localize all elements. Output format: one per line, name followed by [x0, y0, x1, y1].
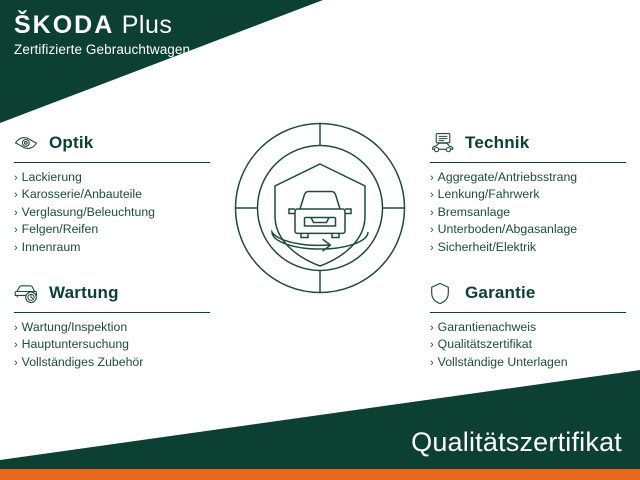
brand-name-plus: Plus	[122, 11, 173, 39]
brand-logo: ŠKODA Plus Zertifizierte Gebrauchtwagen	[14, 10, 190, 58]
section-wartung: Wartung ›Wartung/Inspektion ›Hauptunters…	[14, 280, 210, 371]
section-technik-title: Technik	[465, 133, 529, 153]
chevron-icon: ›	[14, 205, 18, 221]
chevron-icon: ›	[430, 170, 434, 186]
list-item: ›Garantienachweis	[430, 319, 626, 336]
section-optik-title: Optik	[49, 133, 93, 153]
section-optik-list: ›Lackierung ›Karosserie/Anbauteile ›Verg…	[14, 169, 210, 256]
certified-vehicle-shield-emblem	[232, 120, 408, 296]
chevron-icon: ›	[14, 337, 18, 353]
list-item-label: Qualitätszertifikat	[438, 336, 532, 352]
list-item: ›Hauptuntersuchung	[14, 336, 210, 353]
car-technical-icon	[430, 131, 456, 155]
footer-title: Qualitätszertifikat	[411, 426, 622, 458]
shield-icon	[430, 281, 456, 305]
list-item: ›Karosserie/Anbauteile	[14, 186, 210, 203]
list-item-label: Lackierung	[22, 169, 82, 185]
list-item-label: Verglasung/Beleuchtung	[22, 204, 155, 220]
section-garantie-list: ›Garantienachweis ›Qualitätszertifikat ›…	[430, 319, 626, 371]
list-item-label: Lenkung/Fahrwerk	[438, 186, 540, 202]
section-technik-header: Technik	[430, 130, 626, 156]
chevron-icon: ›	[14, 170, 18, 186]
column-left: Optik ›Lackierung ›Karosserie/Anbauteile…	[14, 130, 210, 371]
list-item-label: Karosserie/Anbauteile	[22, 186, 142, 202]
list-item: ›Felgen/Reifen	[14, 221, 210, 238]
list-item-label: Unterboden/Abgasanlage	[438, 221, 577, 237]
list-item-label: Wartung/Inspektion	[22, 319, 128, 335]
list-item: ›Bremsanlage	[430, 204, 626, 221]
chevron-icon: ›	[430, 355, 434, 371]
list-item: ›Innenraum	[14, 239, 210, 256]
section-technik: Technik ›Aggregate/Antriebsstrang ›Lenku…	[430, 130, 626, 256]
chevron-icon: ›	[430, 337, 434, 353]
list-item-label: Sicherheit/Elektrik	[438, 239, 536, 255]
section-optik: Optik ›Lackierung ›Karosserie/Anbauteile…	[14, 130, 210, 256]
brand-title: ŠKODA Plus	[14, 10, 190, 40]
list-item: ›Wartung/Inspektion	[14, 319, 210, 336]
list-item: ›Lenkung/Fahrwerk	[430, 186, 626, 203]
section-wartung-title: Wartung	[49, 283, 119, 303]
section-garantie: Garantie ›Garantienachweis ›Qualitätszer…	[430, 280, 626, 371]
list-item-label: Bremsanlage	[438, 204, 510, 220]
list-item-label: Felgen/Reifen	[22, 221, 99, 237]
list-item-label: Innenraum	[22, 239, 81, 255]
list-item: ›Verglasung/Beleuchtung	[14, 204, 210, 221]
section-garantie-header: Garantie	[430, 280, 626, 306]
section-garantie-divider	[430, 312, 626, 313]
list-item-label: Aggregate/Antriebsstrang	[438, 169, 577, 185]
chevron-icon: ›	[14, 355, 18, 371]
chevron-icon: ›	[14, 320, 18, 336]
chevron-icon: ›	[430, 205, 434, 221]
section-garantie-title: Garantie	[465, 283, 536, 303]
list-item-label: Vollständige Unterlagen	[438, 354, 568, 370]
section-wartung-list: ›Wartung/Inspektion ›Hauptuntersuchung ›…	[14, 319, 210, 371]
list-item: ›Aggregate/Antriebsstrang	[430, 169, 626, 186]
chevron-icon: ›	[430, 222, 434, 238]
list-item: ›Lackierung	[14, 169, 210, 186]
section-wartung-header: Wartung	[14, 280, 210, 306]
eye-icon	[14, 131, 40, 155]
car-service-clock-icon	[14, 281, 40, 305]
column-right: Technik ›Aggregate/Antriebsstrang ›Lenku…	[430, 130, 626, 371]
list-item: ›Unterboden/Abgasanlage	[430, 221, 626, 238]
section-wartung-divider	[14, 312, 210, 313]
chevron-icon: ›	[430, 240, 434, 256]
brand-tagline: Zertifizierte Gebrauchtwagen	[14, 41, 190, 58]
section-optik-divider	[14, 162, 210, 163]
footer-accent-bar	[0, 469, 640, 480]
section-technik-divider	[430, 162, 626, 163]
list-item-label: Hauptuntersuchung	[22, 336, 129, 352]
chevron-icon: ›	[430, 320, 434, 336]
chevron-icon: ›	[14, 240, 18, 256]
list-item-label: Vollständiges Zubehör	[22, 354, 144, 370]
section-technik-list: ›Aggregate/Antriebsstrang ›Lenkung/Fahrw…	[430, 169, 626, 256]
list-item-label: Garantienachweis	[438, 319, 536, 335]
list-item: ›Vollständiges Zubehör	[14, 354, 210, 371]
list-item: ›Qualitätszertifikat	[430, 336, 626, 353]
brand-name-skoda: ŠKODA	[14, 11, 114, 39]
section-optik-header: Optik	[14, 130, 210, 156]
chevron-icon: ›	[430, 187, 434, 203]
chevron-icon: ›	[14, 187, 18, 203]
list-item: ›Vollständige Unterlagen	[430, 354, 626, 371]
list-item: ›Sicherheit/Elektrik	[430, 239, 626, 256]
chevron-icon: ›	[14, 222, 18, 238]
